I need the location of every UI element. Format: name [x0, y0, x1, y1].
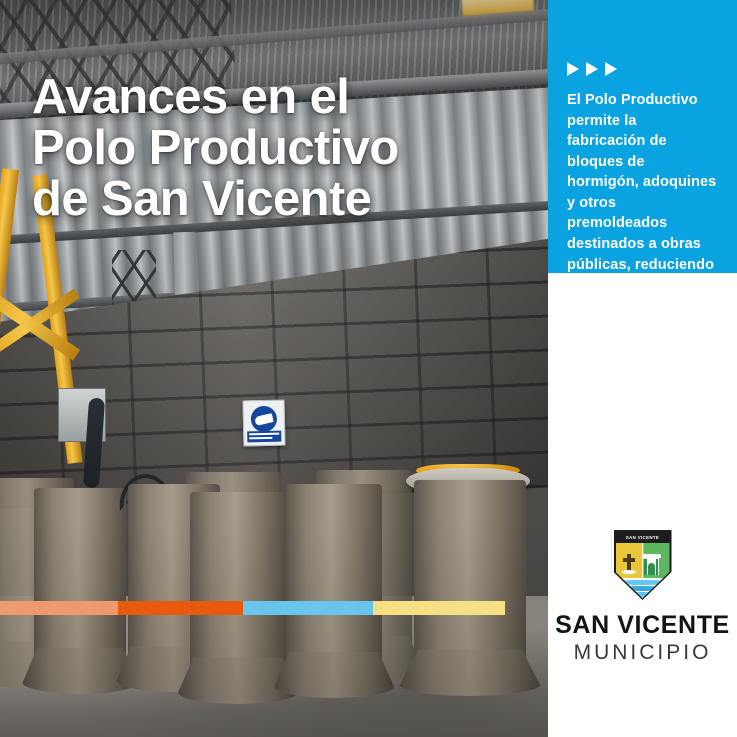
safety-footwear-sign [243, 400, 286, 447]
accent-color-bar [0, 601, 505, 615]
safety-sign-caption [247, 431, 281, 443]
concrete-pipe [286, 484, 382, 698]
color-bar-segment-yellow [373, 601, 505, 615]
color-bar-segment-sky [243, 601, 373, 615]
coat-of-arms-icon: SAN VICENTE [612, 528, 674, 602]
logo-title: SAN VICENTE [548, 612, 737, 638]
chapel-icon [642, 554, 661, 575]
concrete-pipe [190, 492, 286, 704]
page-title: Avances en el Polo Productivo de San Vic… [32, 72, 502, 225]
callout-panel: El Polo Productivo permite la fabricació… [548, 0, 737, 273]
triple-right-arrow-icon [567, 62, 617, 76]
color-bar-segment-salmon [0, 601, 118, 615]
color-bar-segment-orange [118, 601, 243, 615]
cross-icon [622, 554, 636, 574]
logo-subtitle: MUNICIPIO [548, 640, 737, 665]
municipality-logo: SAN VICENTE SAN VICENTE MUNICIPIO [548, 528, 737, 665]
poster-root: Avances en el Polo Productivo de San Vic… [0, 0, 737, 737]
concrete-pipe [34, 488, 126, 694]
concrete-pipe [414, 480, 526, 696]
shield-banner-label: SAN VICENTE [616, 532, 670, 543]
safety-sign-pictogram [251, 406, 278, 433]
callout-text: El Polo Productivo permite la fabricació… [567, 90, 719, 296]
